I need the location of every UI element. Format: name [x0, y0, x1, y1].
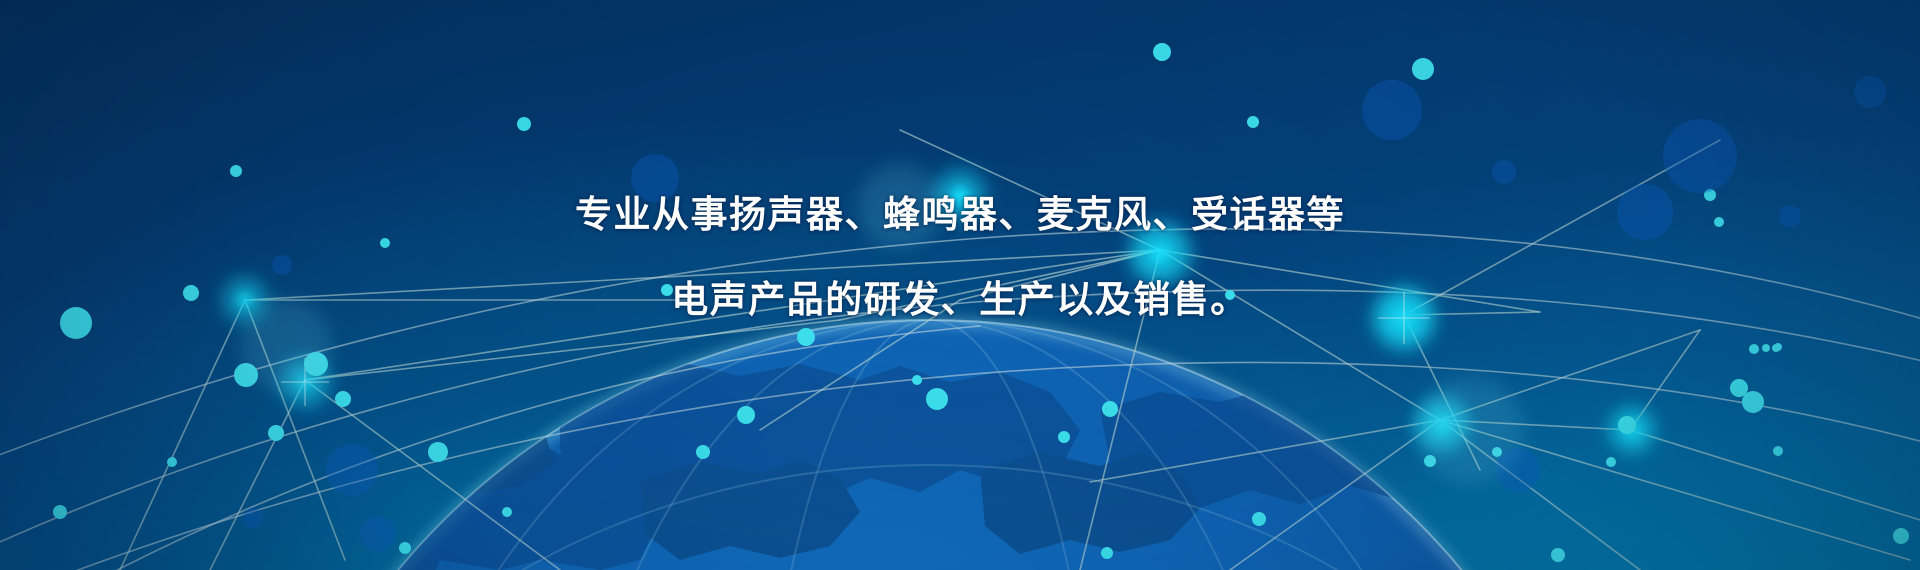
- vignette-overlay: [0, 0, 1920, 570]
- hero-banner: 专业从事扬声器、蜂鸣器、麦克风、受话器等 电声产品的研发、生产以及销售。: [0, 0, 1920, 570]
